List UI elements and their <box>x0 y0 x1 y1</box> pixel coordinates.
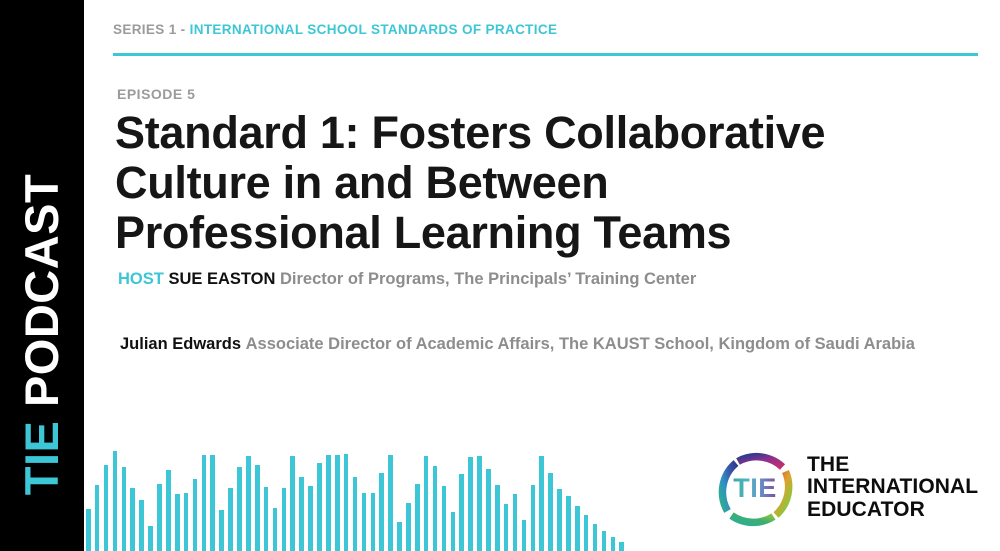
waveform-bar <box>237 467 242 551</box>
waveform-bar <box>228 488 233 551</box>
waveform-bar <box>504 504 509 551</box>
series-number: SERIES 1 - <box>113 22 190 37</box>
page-title: Standard 1: Fosters Collaborative Cultur… <box>115 108 875 258</box>
waveform-bar <box>290 456 295 551</box>
waveform-bar <box>344 454 349 551</box>
brand-rail-text-wrapper: TIE PODCAST <box>0 133 84 533</box>
waveform-bar <box>193 479 198 551</box>
waveform-bar <box>548 473 553 551</box>
waveform-bar <box>406 503 411 551</box>
waveform-bar <box>264 487 269 551</box>
waveform-bar <box>210 455 215 551</box>
tie-ring-icon: TIE <box>712 445 798 531</box>
tie-logo-line-1: THE <box>807 454 978 477</box>
waveform-bar <box>299 477 304 551</box>
brand-rail-accent-text: TIE <box>16 421 69 496</box>
waveform-bar <box>113 451 118 551</box>
waveform-bar <box>433 466 438 551</box>
brand-rail-label: TIE PODCAST <box>19 174 66 495</box>
waveform-bar <box>86 509 91 551</box>
waveform-bar <box>593 524 598 551</box>
host-name: SUE EASTON <box>168 270 275 288</box>
waveform-bar <box>157 484 162 551</box>
waveform-bar <box>317 463 322 551</box>
waveform-bar <box>486 469 491 551</box>
waveform-bar <box>130 488 135 551</box>
waveform-bar <box>122 467 127 551</box>
waveform-bar <box>459 474 464 551</box>
waveform-bar <box>495 485 500 551</box>
waveform-bar <box>246 456 251 551</box>
tie-logo: TIE THE INTERNATIONAL EDUCATOR <box>712 440 962 535</box>
waveform-bar <box>219 510 224 551</box>
tie-logo-line-2: INTERNATIONAL <box>807 476 978 499</box>
guest-role: Associate Director of Academic Affairs, … <box>246 335 915 353</box>
waveform-bar <box>397 522 402 551</box>
tie-logo-line-3: EDUCATOR <box>807 499 978 522</box>
waveform-bar <box>522 520 527 551</box>
episode-label: EPISODE 5 <box>117 86 195 102</box>
waveform-bar <box>539 456 544 551</box>
brand-rail: TIE PODCAST <box>0 0 84 551</box>
waveform-bar <box>95 485 100 551</box>
waveform-bar <box>513 494 518 551</box>
waveform-bar <box>442 486 447 551</box>
waveform-bar <box>362 493 367 551</box>
header-divider <box>113 53 978 56</box>
svg-text:TIE: TIE <box>733 473 777 503</box>
guest-name: Julian Edwards <box>120 335 241 353</box>
waveform-bar <box>379 473 384 551</box>
waveform-bar <box>166 470 171 551</box>
waveform-bar <box>308 486 313 551</box>
waveform-bar <box>139 500 144 551</box>
waveform-bar <box>148 526 153 551</box>
waveform-bar <box>388 455 393 551</box>
waveform-bar <box>584 515 589 551</box>
brand-rail-main-text: PODCAST <box>16 174 69 421</box>
waveform-bar <box>184 493 189 551</box>
audio-waveform <box>86 441 751 551</box>
host-credit: HOST SUE EASTON Director of Programs, Th… <box>118 270 696 289</box>
waveform-bar <box>202 455 207 551</box>
waveform-bar <box>451 512 456 551</box>
podcast-title-slide: TIE PODCAST SERIES 1 - INTERNATIONAL SCH… <box>0 0 1000 551</box>
waveform-bar <box>175 494 180 551</box>
waveform-bar <box>326 455 331 551</box>
waveform-bar <box>575 506 580 551</box>
waveform-bar <box>531 485 536 551</box>
series-name: INTERNATIONAL SCHOOL STANDARDS OF PRACTI… <box>190 22 558 37</box>
waveform-bar <box>566 496 571 551</box>
waveform-bar <box>104 465 109 551</box>
host-role: Director of Programs, The Principals’ Tr… <box>280 270 696 288</box>
waveform-bar <box>273 508 278 551</box>
waveform-bar <box>282 488 287 551</box>
waveform-bar <box>557 489 562 551</box>
tie-logo-wordmark: THE INTERNATIONAL EDUCATOR <box>807 454 978 522</box>
waveform-bar <box>255 465 260 551</box>
waveform-bar <box>353 477 358 551</box>
waveform-bar <box>611 537 616 551</box>
waveform-bar <box>468 457 473 551</box>
waveform-bar <box>335 455 340 551</box>
waveform-bar <box>415 484 420 551</box>
series-header: SERIES 1 - INTERNATIONAL SCHOOL STANDARD… <box>113 22 557 37</box>
guest-credit: Julian Edwards Associate Director of Aca… <box>120 335 915 354</box>
waveform-bar <box>477 456 482 551</box>
waveform-bar <box>619 542 624 551</box>
host-keyword: HOST <box>118 270 164 288</box>
waveform-bar <box>424 456 429 551</box>
waveform-bar <box>602 531 607 551</box>
waveform-bar <box>371 493 376 551</box>
